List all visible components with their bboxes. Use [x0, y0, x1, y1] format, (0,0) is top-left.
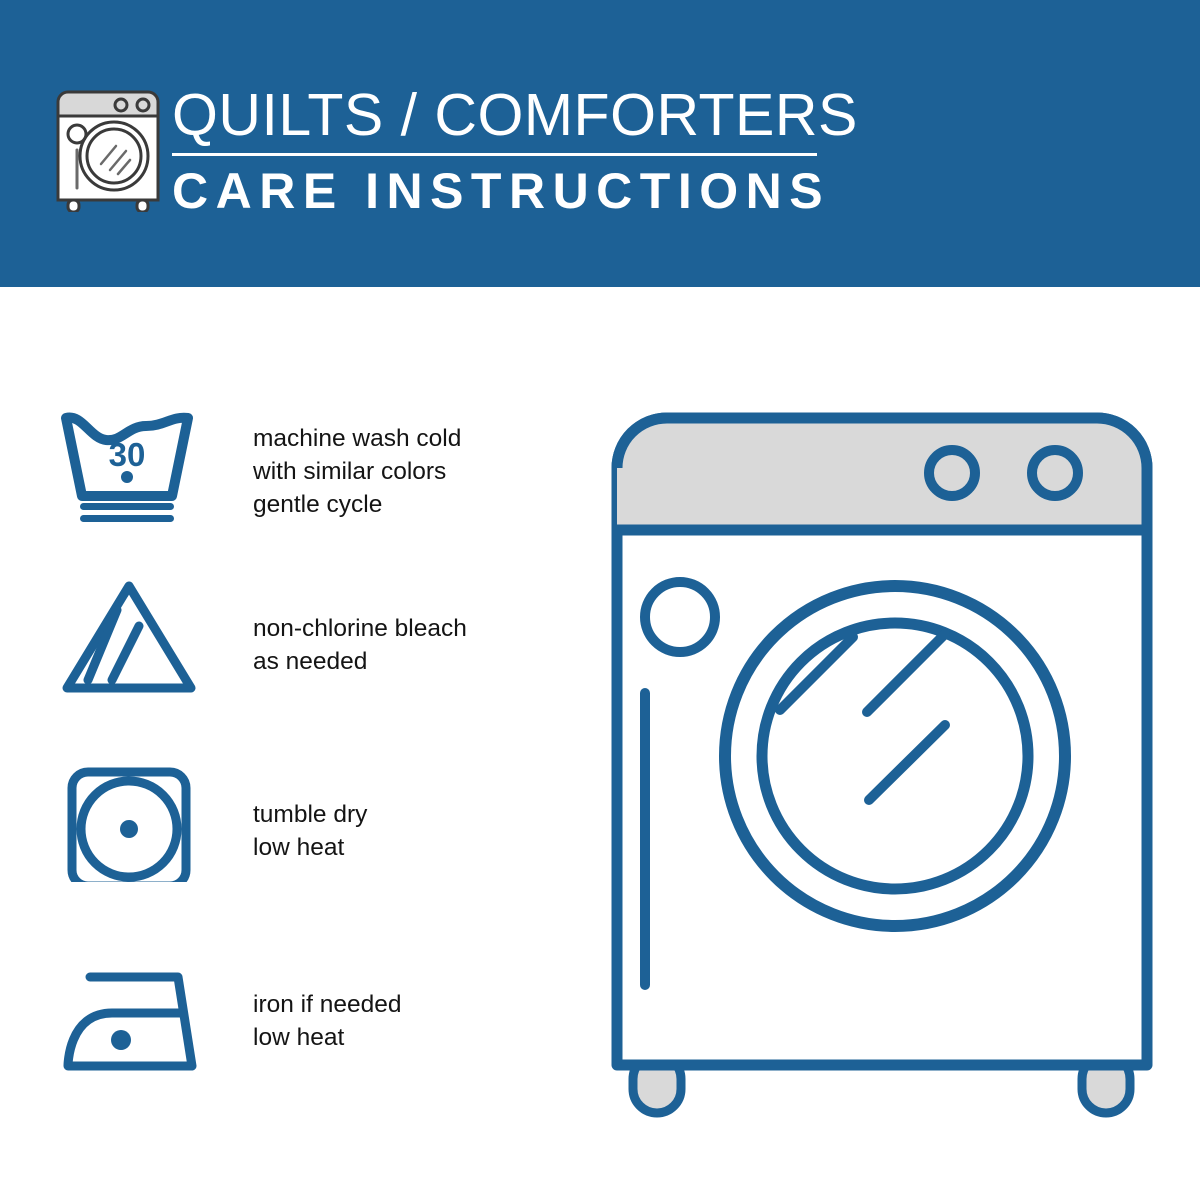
control-panel: [617, 418, 1147, 530]
care-text-iron: iron if needed low heat: [253, 988, 543, 1054]
wash-temperature-label: 30: [109, 436, 146, 473]
title-divider: [172, 153, 817, 156]
care-text-bleach: non-chlorine bleach as needed: [253, 612, 543, 678]
care-line: as needed: [253, 645, 543, 678]
care-line: low heat: [253, 1021, 543, 1054]
washing-machine-illustration: [595, 400, 1170, 1120]
bleach-triangle-icon: [60, 576, 200, 696]
care-line: low heat: [253, 831, 543, 864]
care-line: iron if needed: [253, 988, 543, 1021]
care-text-tumble-dry: tumble dry low heat: [253, 798, 543, 864]
care-line: gentle cycle: [253, 488, 543, 521]
care-row-tumble-dry: tumble dry low heat: [0, 780, 560, 968]
care-row-iron: iron if needed low heat: [0, 968, 560, 1156]
care-instruction-list: 30 machine wash cold with similar colors…: [0, 404, 560, 1156]
header-title-block: QUILTS / COMFORTERS CARE INSTRUCTIONS: [172, 84, 817, 218]
care-row-wash: 30 machine wash cold with similar colors…: [0, 404, 560, 592]
washing-machine-icon: [52, 80, 164, 212]
header-banner: QUILTS / COMFORTERS CARE INSTRUCTIONS: [0, 0, 1200, 287]
care-text-wash: machine wash cold with similar colors ge…: [253, 422, 543, 521]
page-subtitle: CARE INSTRUCTIONS: [172, 164, 817, 218]
tumble-dry-icon: [60, 762, 200, 882]
care-row-bleach: non-chlorine bleach as needed: [0, 592, 560, 780]
care-instructions-page: QUILTS / COMFORTERS CARE INSTRUCTIONS 30…: [0, 0, 1200, 1200]
care-line: tumble dry: [253, 798, 543, 831]
care-line: with similar colors: [253, 455, 543, 488]
care-line: machine wash cold: [253, 422, 543, 455]
iron-icon: [60, 966, 200, 1086]
care-line: non-chlorine bleach: [253, 612, 543, 645]
page-title: QUILTS / COMFORTERS: [172, 84, 817, 146]
wash-tub-icon: 30: [60, 404, 200, 524]
